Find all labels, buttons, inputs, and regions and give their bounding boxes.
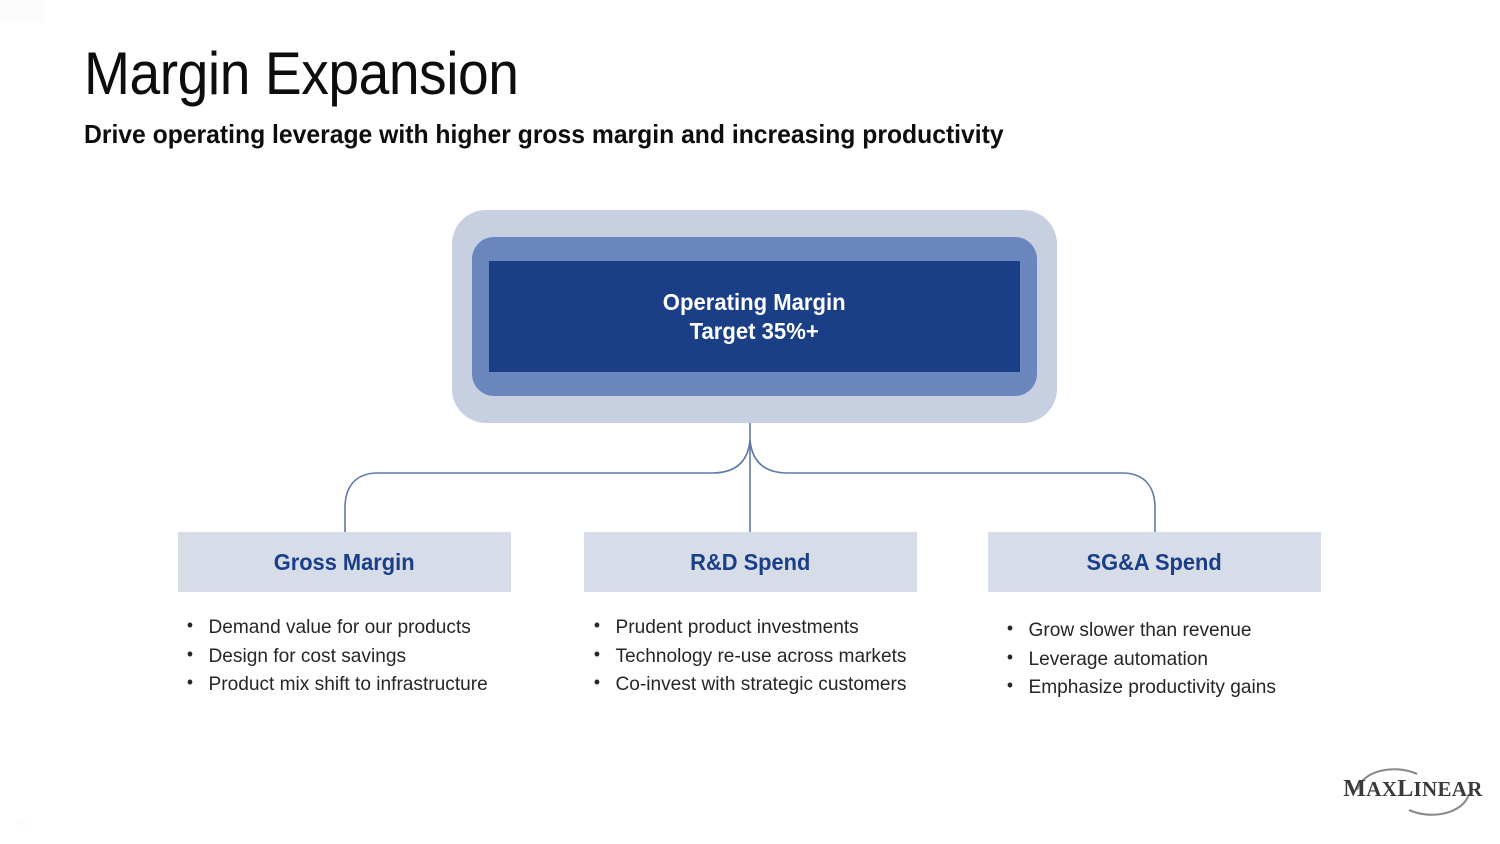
list-item: Technology re-use across markets [589, 643, 910, 670]
column-gross-margin: Gross Margin Demand value for our produc… [178, 532, 511, 700]
logo-inear: INEAR [1414, 777, 1483, 801]
list-item: Leverage automation [1002, 646, 1315, 673]
list-item: Co-invest with strategic customers [589, 671, 910, 698]
bullet-list-gross-margin: Demand value for our products Design for… [178, 614, 511, 698]
page-subtitle: Drive operating leverage with higher gro… [84, 120, 1004, 150]
connector-left [345, 440, 750, 532]
logo-l: L [1397, 776, 1413, 802]
logo-wordmark: MAXLINEAR [1337, 776, 1489, 803]
column-header-label: R&D Spend [690, 549, 810, 576]
operating-margin-text: Operating Margin Target 35%+ [663, 288, 846, 345]
list-item: Grow slower than revenue [1002, 617, 1315, 644]
page-title: Margin Expansion [84, 42, 518, 105]
connector-right [750, 440, 1155, 532]
list-item: Emphasize productivity gains [1002, 674, 1315, 701]
column-sga-spend: SG&A Spend Grow slower than revenue Leve… [988, 532, 1321, 703]
corner-artifact [0, 0, 44, 22]
list-item: Design for cost savings [182, 643, 504, 670]
operating-margin-node-outer: Operating Margin Target 35%+ [452, 210, 1057, 423]
column-rd-spend: R&D Spend Prudent product investments Te… [584, 532, 917, 700]
column-header-label: Gross Margin [274, 549, 415, 576]
operating-margin-line2: Target 35%+ [663, 317, 846, 346]
operating-margin-node: Operating Margin Target 35%+ [489, 261, 1020, 372]
logo-m: M [1343, 776, 1366, 802]
column-header-rd-spend: R&D Spend [584, 532, 917, 592]
bullet-list-rd-spend: Prudent product investments Technology r… [584, 614, 917, 698]
column-header-gross-margin: Gross Margin [178, 532, 511, 592]
maxlinear-logo: MAXLINEAR [1337, 760, 1489, 822]
operating-margin-node-mid: Operating Margin Target 35%+ [472, 237, 1037, 396]
list-item: Product mix shift to infrastructure [182, 671, 504, 698]
bullet-list-sga-spend: Grow slower than revenue Leverage automa… [988, 617, 1321, 701]
slide-number: 21 [14, 818, 31, 835]
column-header-label: SG&A Spend [1087, 549, 1222, 576]
list-item: Prudent product investments [589, 614, 910, 641]
column-header-sga-spend: SG&A Spend [988, 532, 1321, 592]
list-item: Demand value for our products [182, 614, 504, 641]
operating-margin-line1: Operating Margin [663, 288, 846, 317]
slide-canvas: Margin Expansion Drive operating leverag… [0, 0, 1500, 844]
logo-ax: AX [1366, 777, 1397, 801]
